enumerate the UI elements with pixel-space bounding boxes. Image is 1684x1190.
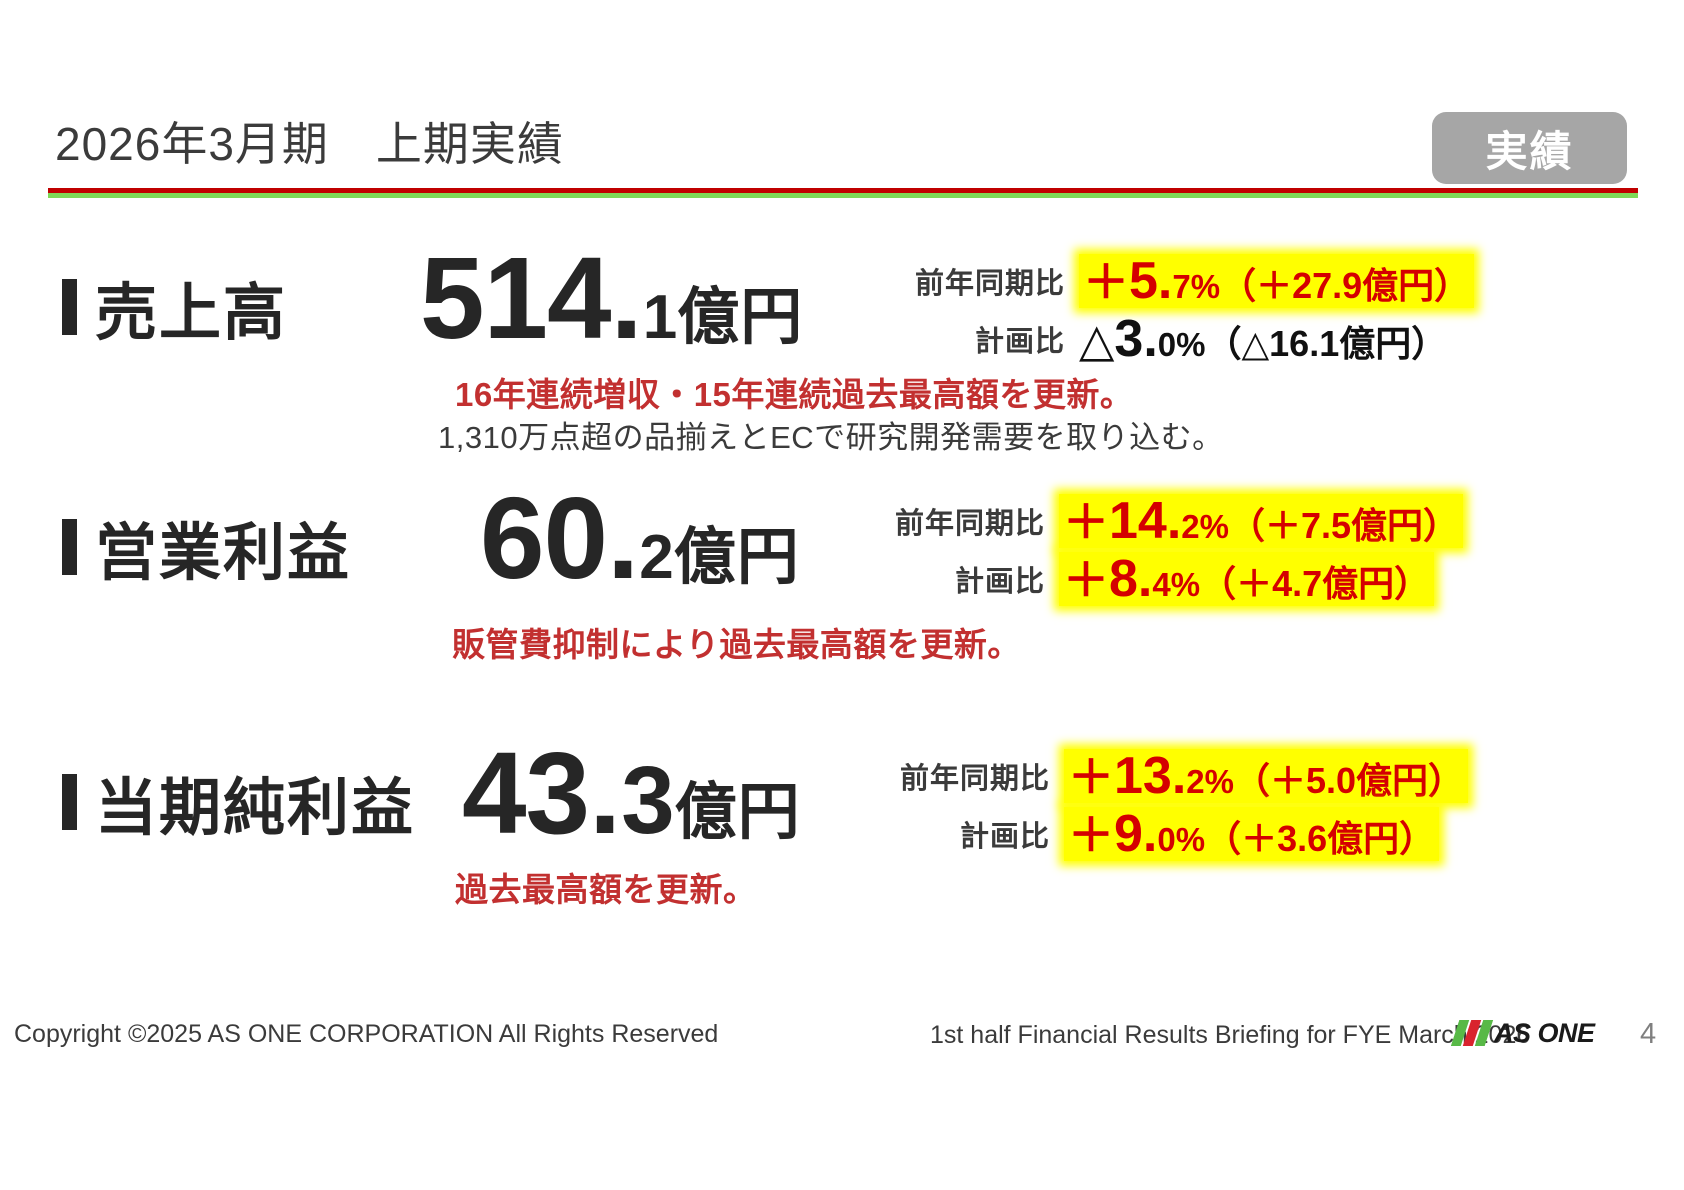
metric-label-text: 営業利益 [95,502,351,592]
compare-dot: . [1143,807,1157,862]
compare-small: 2% [1181,510,1229,545]
value-decimal-point: . [589,735,621,851]
compare-block-sales: 前年同期比 ＋ 5 . 7% （＋27.9億円） 計画比 △ 3 . 0% （△… [895,252,1474,368]
bullet-tick-icon [62,774,77,830]
compare-value: △ 3 . 0% （△16.1億円） [1079,312,1447,367]
bullet-tick-icon [62,519,77,575]
compare-block-operating-profit: 前年同期比 ＋ 14 . 2% （＋7.5億円） 計画比 ＋ 8 . 4% （＋… [875,492,1463,608]
compare-big: 8 [1109,552,1138,607]
page-number: 4 [1640,1018,1656,1051]
company-logo: AS ONE [1455,1016,1595,1050]
copyright-text: Copyright ©2025 AS ONE CORPORATION All R… [14,1020,718,1049]
compare-label: 前年同期比 [880,755,1050,797]
comment-highlight-net-income: 過去最高額を更新。 [455,863,757,911]
compare-sign: ＋ [1083,258,1129,306]
compare-value: ＋ 5 . 7% （＋27.9億円） [1079,254,1474,309]
value-integer: 43 [462,735,589,851]
slide: 2026年3月期 上期実績 実績 売上高 514 . 1 億円 前年同期比 ＋ … [0,0,1684,1190]
compare-small: 0% [1158,328,1206,363]
compare-value: ＋ 13 . 2% （＋5.0億円） [1064,749,1468,804]
value-integer: 60 [480,480,607,596]
compare-sign: △ [1079,316,1114,364]
compare-paren: （＋27.9億円） [1220,267,1470,305]
compare-label: 計画比 [875,558,1045,600]
compare-small: 0% [1157,823,1205,858]
compare-dot: . [1138,552,1152,607]
compare-dot: . [1167,494,1181,549]
compare-paren: （＋3.6億円） [1205,820,1435,858]
bullet-tick-icon [62,279,77,335]
compare-paren: （＋4.7億円） [1200,565,1430,603]
compare-label: 計画比 [895,318,1065,360]
divider-green-bar [48,193,1638,198]
status-badge: 実績 [1432,112,1627,184]
comment-highlight-operating-profit: 販管費抑制により過去最高額を更新。 [452,618,1021,666]
logo-text: AS ONE [1494,1018,1595,1049]
compare-sign: ＋ [1063,556,1109,604]
compare-row-plan: 計画比 ＋ 8 . 4% （＋4.7億円） [875,550,1463,608]
value-decimal: 1 [643,287,677,349]
compare-small: 4% [1152,568,1200,603]
metric-label-net-income: 当期純利益 [62,757,415,847]
compare-value: ＋ 14 . 2% （＋7.5億円） [1059,494,1463,549]
compare-sign: ＋ [1068,811,1114,859]
compare-block-net-income: 前年同期比 ＋ 13 . 2% （＋5.0億円） 計画比 ＋ 9 . 0% （＋… [880,747,1468,863]
compare-small: 2% [1186,765,1234,800]
comment-sub-sales: 1,310万点超の品揃えとECで研究開発需要を取り込む。 [438,412,1224,457]
metric-value-sales: 514 . 1 億円 [420,240,803,356]
value-unit: 億円 [674,527,800,589]
page-title: 2026年3月期 上期実績 [55,108,564,174]
as-one-logo-icon [1451,1020,1493,1046]
compare-big: 5 [1129,254,1158,309]
compare-big: 13 [1114,749,1172,804]
slide-footer: Copyright ©2025 AS ONE CORPORATION All R… [0,1020,1684,1080]
value-unit: 億円 [677,287,803,349]
comment-highlight-sales: 16年連続増収・15年連続過去最高額を更新。 [455,368,1133,416]
compare-dot: . [1172,749,1186,804]
compare-small: 7% [1172,270,1220,305]
compare-big: 9 [1114,807,1143,862]
compare-dot: . [1143,312,1157,367]
metric-label-text: 当期純利益 [95,757,415,847]
compare-row-plan: 計画比 ＋ 9 . 0% （＋3.6億円） [880,805,1468,863]
compare-label: 前年同期比 [875,500,1045,542]
compare-row-yoy: 前年同期比 ＋ 5 . 7% （＋27.9億円） [895,252,1474,310]
metric-value-net-income: 43 . 3 億円 [462,735,801,851]
compare-dot: . [1158,254,1172,309]
metric-label-operating-profit: 営業利益 [62,502,351,592]
compare-row-yoy: 前年同期比 ＋ 14 . 2% （＋7.5億円） [875,492,1463,550]
compare-big: 14 [1109,494,1167,549]
compare-paren: （＋7.5億円） [1229,507,1459,545]
value-decimal-point: . [611,240,643,356]
value-decimal: 3 [621,753,674,849]
compare-paren: （＋5.0億円） [1234,762,1464,800]
compare-label: 計画比 [880,813,1050,855]
value-integer: 514 [420,240,611,356]
metric-label-sales: 売上高 [62,262,287,352]
compare-label: 前年同期比 [895,260,1065,302]
compare-big: 3 [1114,312,1143,367]
metric-label-text: 売上高 [95,262,287,352]
title-divider [48,188,1638,198]
compare-value: ＋ 9 . 0% （＋3.6億円） [1064,807,1439,862]
compare-value: ＋ 8 . 4% （＋4.7億円） [1059,552,1434,607]
compare-sign: ＋ [1068,753,1114,801]
compare-sign: ＋ [1063,498,1109,546]
compare-row-yoy: 前年同期比 ＋ 13 . 2% （＋5.0億円） [880,747,1468,805]
footer-subtitle: 1st half Financial Results Briefing for … [930,1021,1530,1050]
value-decimal: 2 [639,527,673,589]
value-unit: 億円 [675,782,801,844]
compare-paren: （△16.1億円） [1205,325,1447,363]
metric-value-operating-profit: 60 . 2 億円 [480,480,800,596]
compare-row-plan: 計画比 △ 3 . 0% （△16.1億円） [895,310,1474,368]
value-decimal-point: . [607,480,639,596]
